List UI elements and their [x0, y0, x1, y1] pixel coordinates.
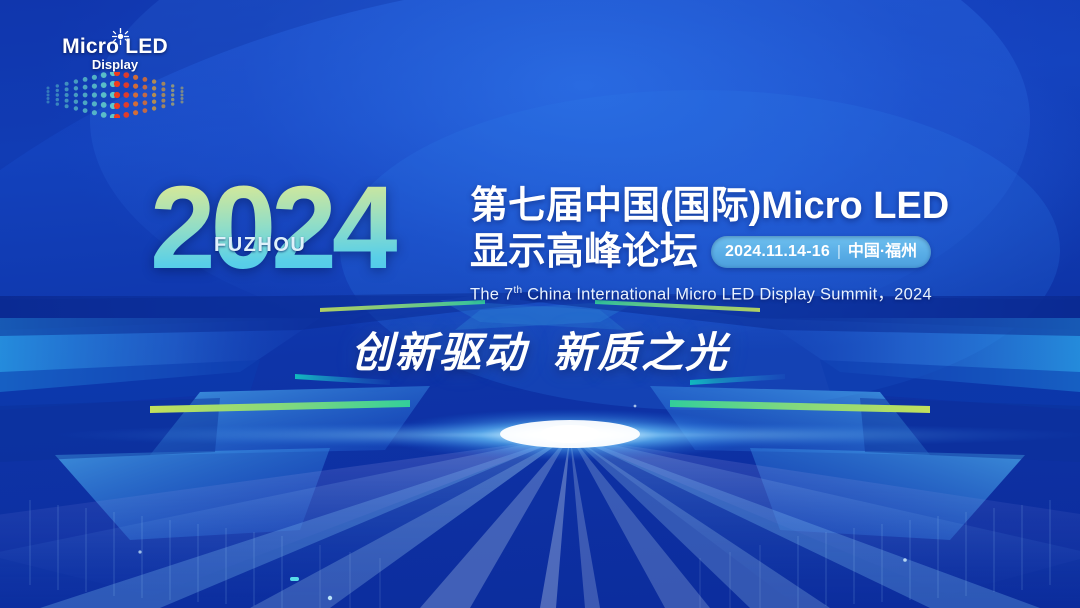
year-number: 2024: [150, 168, 470, 288]
title-english-pre: The 7: [470, 286, 513, 304]
event-poster: Micro LED Display 2024 FUZHOU 第七届中国(国际)M…: [0, 0, 1080, 608]
event-slogan: 创新驱动新质之光: [0, 327, 1080, 379]
year-block: 2024 FUZHOU: [150, 168, 470, 294]
micro-led-display-logo: Micro LED Display: [40, 14, 190, 116]
event-location: 中国·福州: [848, 241, 917, 262]
title-english-rest: China International Micro LED Display Su…: [522, 286, 932, 304]
title-english: The 7th China International Micro LED Di…: [470, 281, 990, 305]
event-date: 2024.11.14-16: [725, 241, 830, 262]
title-row-2: 显示高峰论坛 2024.11.14-16 | 中国·福州: [470, 230, 990, 274]
date-location-badge: 2024.11.14-16 | 中国·福州: [711, 236, 931, 268]
title-line-2: 显示高峰论坛: [470, 230, 698, 274]
ordinal-suffix: th: [513, 285, 522, 296]
host-city-label: FUZHOU: [214, 234, 306, 257]
logo-wordmark: Micro LED: [40, 36, 190, 57]
logo-subtext: Display: [40, 58, 190, 71]
badge-separator: |: [837, 241, 841, 262]
slogan-part-1: 创新驱动: [351, 329, 527, 376]
led-dot-matrix-icon: [40, 72, 190, 118]
title-line-1: 第七届中国(国际)Micro LED: [470, 184, 990, 228]
title-block: 第七届中国(国际)Micro LED 显示高峰论坛 2024.11.14-16 …: [470, 184, 990, 305]
slogan-part-2: 新质之光: [553, 329, 729, 376]
